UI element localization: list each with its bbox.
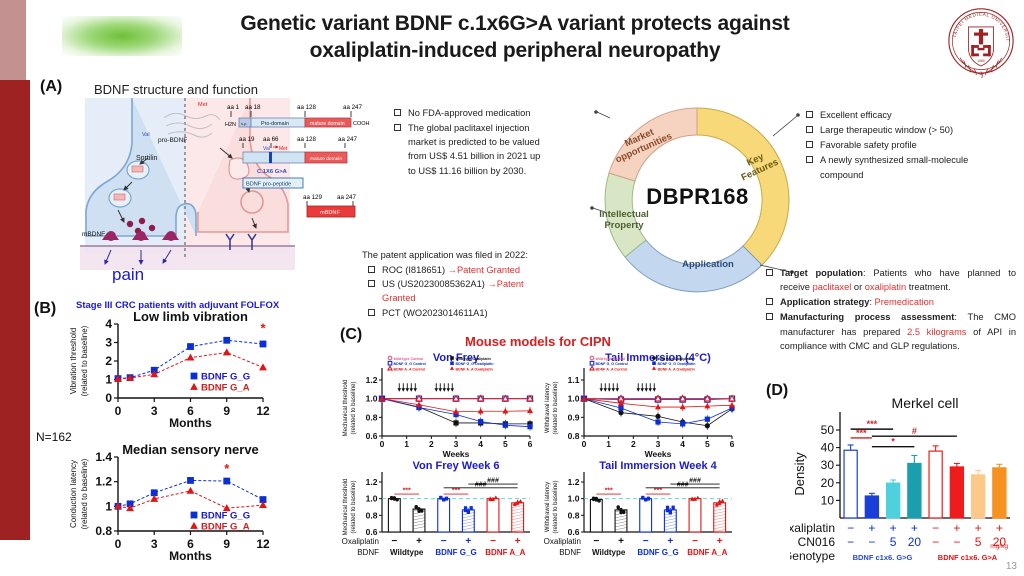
svg-text:40: 40 [821,441,835,455]
patent-item-0: ROC (I818651) →Patent Granted [368,263,537,277]
aa66-label: aa 66 [263,136,279,143]
svg-text:0: 0 [115,537,122,551]
donut-label-application: Application [668,260,748,271]
patent-text-1: US (US20230085362A1) [382,279,485,289]
svg-text:BDNF G_G: BDNF G_G [435,548,476,557]
svg-text:(related to baseline): (related to baseline) [553,480,559,533]
checkbox-icon [806,126,813,133]
propeptide-label: BDNF pro-peptide [246,182,291,188]
bar [438,499,450,532]
svg-text:Wild type Oxaliplatin: Wild type Oxaliplatin [456,357,491,361]
checkbox-icon [766,298,773,305]
svg-text:BDNF G_G: BDNF G_G [201,372,250,383]
chart-tail-immersion-week4: Tail Immersion Week 40.60.81.01.2Withdra… [540,458,736,576]
svg-text:mg/kg: mg/kg [990,543,1008,550]
series-bdnf-g-a [114,487,267,511]
svg-text:Wild type Control: Wild type Control [596,357,626,361]
svg-text:(related to baseline): (related to baseline) [351,381,357,434]
svg-text:BDNF A_A Oxaliplatin: BDNF A_A Oxaliplatin [456,367,493,371]
chart-svg: Merkel cell1020304050Density−−+−+5+20−−+… [790,386,1016,576]
panel-c-header: Mouse models for CIPN [418,334,658,349]
donut-label-intellectual-property: IntellectualProperty [586,210,662,232]
svg-text:1.0: 1.0 [366,494,378,504]
logo-arc-text: TAIPEI MEDICAL UNIVERSITY [946,6,1010,42]
chart-merkel-cell: Merkel cell1020304050Density−−+−+5+20−−+… [790,386,1016,576]
svg-text:Mechanical threshold: Mechanical threshold [343,380,349,437]
key-feature-2: Favorable safety profile [806,138,1006,152]
panel-a-subtitle: BDNF structure and function [94,82,258,97]
taipei-medical-university-logo: 1960 TAIPEI MEDICAL UNIVERSITY [946,6,1016,80]
page-number: 13 [1006,561,1017,572]
aa18-label: aa 18 [245,104,261,111]
key-feature-0: Excellent efficacy [806,108,1006,122]
svg-text:0: 0 [105,391,112,405]
aa247-label-2: aa 247 [338,136,357,143]
checkbox-icon [368,309,375,316]
application-bullet-0: Target population: Patients who have pla… [766,266,1016,294]
svg-text:+: + [953,521,960,535]
svg-text:0.6: 0.6 [366,431,378,441]
svg-text:+: + [868,521,875,535]
svg-text:9: 9 [223,537,230,551]
svg-text:BDNF: BDNF [357,548,379,557]
bar [590,500,602,533]
app-mid-0: or [851,282,864,292]
key-feature-1: Large therapeutic window (> 50) [806,123,1006,137]
bdnf-domain-map: aa 1 aa 18 aa 128 aa 247 H2N s.p. Pro-do… [225,100,385,222]
svg-text:50: 50 [821,423,835,437]
svg-text:3: 3 [454,439,459,449]
svg-text:5: 5 [975,535,982,549]
svg-text:0: 0 [582,439,587,449]
bar [929,451,942,518]
svg-text:5: 5 [890,535,897,549]
prodomain-label: Pro-domain [261,121,289,127]
chart-von-frey: Von Frey0.60.81.01.20123456WeeksMechanic… [338,350,534,458]
svg-text:1: 1 [606,439,611,449]
svg-text:1.1: 1.1 [568,375,580,385]
bar [950,467,963,518]
svg-text:###: ### [677,481,689,488]
application-bullet-2: Manufacturing process assessment: The CM… [766,310,1016,352]
svg-text:#: # [912,426,917,436]
svg-text:BDNF A_A: BDNF A_A [485,548,525,557]
svg-text:Oxaliplatin: Oxaliplatin [342,537,379,546]
svg-text:1.0: 1.0 [366,394,378,404]
checkbox-icon [368,280,375,287]
svg-text:10: 10 [821,493,835,507]
green-gradient-decoration [62,16,182,56]
aa1-label: aa 1 [227,104,240,111]
aa19-label: aa 19 [239,136,255,143]
svg-text:1.2: 1.2 [366,375,378,385]
svg-text:BDNF G_G: BDNF G_G [201,511,250,522]
variant-label: C.1X6 G>A [257,169,288,175]
checkbox-icon [368,266,375,273]
svg-text:CN016: CN016 [798,535,836,549]
svg-text:+: + [890,521,897,535]
svg-text:6: 6 [730,439,735,449]
series-bdnf-a-a-control [581,396,735,401]
svg-text:−: − [441,536,447,547]
svg-text:Weeks: Weeks [645,449,672,458]
app-red1-2: 2.5 kilograms [907,327,966,337]
svg-text:2: 2 [631,439,636,449]
chart-svg: Tail Immersion (4°C)0.80.91.01.10123456W… [540,350,736,458]
svg-text:+: + [618,536,624,547]
svg-text:Conduction latency: Conduction latency [69,460,78,528]
app-red2-0: oxaliplatin [865,282,906,292]
svg-text:1: 1 [105,373,112,387]
svg-text:Tail Immersion Week 4: Tail Immersion Week 4 [599,460,717,472]
mbdnf-label: mBDNF [82,231,105,238]
svg-text:BDNF c1x6. G>G: BDNF c1x6. G>G [853,553,913,562]
svg-text:12: 12 [256,404,270,418]
bar [487,499,499,532]
svg-text:3: 3 [151,537,158,551]
chart-median-sensory-nerve: Median sensory nerve0.811.21.4036912Mont… [66,443,271,561]
left-edge-accent-top [0,0,26,80]
checkbox-icon [394,109,401,116]
svg-text:***: *** [856,428,867,438]
svg-text:1: 1 [404,439,409,449]
svg-text:0.6: 0.6 [568,527,580,537]
svg-text:(related to baseline): (related to baseline) [80,325,89,396]
app-red1-0: paclitaxel [813,282,852,292]
application-bullets-list: Target population: Patients who have pla… [766,266,1016,354]
svg-text:20: 20 [821,476,835,490]
svg-text:Vibration threshold: Vibration threshold [69,328,78,395]
panel-a-letter: (A) [40,78,62,96]
svg-text:−: − [692,536,698,547]
svg-text:BDNF G_A: BDNF G_A [201,383,250,394]
cooh-label: COOH [353,121,370,127]
svg-text:Wild type Oxaliplatin: Wild type Oxaliplatin [658,357,693,361]
val-label: Val [142,132,150,138]
svg-text:Von Frey Week 6: Von Frey Week 6 [412,460,499,472]
bar [993,468,1006,518]
svg-text:(related to baseline): (related to baseline) [351,480,357,533]
svg-text:Wildtype: Wildtype [390,548,424,557]
val-label-2: Val [263,146,270,152]
svg-text:+: + [667,536,673,547]
svg-text:2: 2 [429,439,434,449]
svg-text:0: 0 [380,439,385,449]
svg-text:12: 12 [256,537,270,551]
svg-text:***: *** [654,488,662,495]
svg-text:Median sensory nerve: Median sensory nerve [122,443,259,457]
svg-text:Withdrawal latency: Withdrawal latency [545,383,551,433]
panel-c-letter: (C) [340,326,362,344]
app-bold-2: Manufacturing process assessment [780,312,954,322]
svg-text:1.0: 1.0 [568,494,580,504]
svg-text:Merkel cell: Merkel cell [892,395,959,411]
checkbox-icon [806,111,813,118]
market-bullet-1: The global paclitaxel injection market i… [394,121,544,178]
key-feature-text-2: Favorable safety profile [820,138,917,152]
svg-text:(related to baseline): (related to baseline) [80,458,89,529]
aa128-label-2: aa 128 [297,136,316,143]
app-tail-0: treatment. [906,282,950,292]
checkbox-icon [766,269,773,276]
svg-text:1.2: 1.2 [366,477,378,487]
svg-text:−: − [847,521,854,535]
sample-size-label: N=162 [36,430,72,444]
svg-text:BDNF A_A Control: BDNF A_A Control [596,367,628,371]
key-feature-text-3: A newly synthesized small-molecule compo… [820,153,1006,181]
bar [844,450,857,518]
page-title: Genetic variant BDNF c.1x6G>A variant pr… [190,10,840,65]
app-bold-1: Application strategy [780,297,869,307]
svg-text:+: + [975,521,982,535]
app-red1-1: Premedication [875,297,934,307]
mature-domain-label: mature domain [310,121,345,127]
checkbox-icon [766,313,773,320]
svg-text:(related to baseline): (related to baseline) [553,381,559,434]
svg-text:+: + [416,536,422,547]
svg-text:0.9: 0.9 [568,412,580,422]
panel-d-letter: (D) [766,382,788,400]
patent-status-0: →Patent Granted [448,265,520,275]
chart-legend: BDNF G_GBDNF G_A [190,372,250,394]
key-features-bullets-list: Excellent efficacy Large therapeutic win… [806,108,1006,183]
svg-text:−: − [932,535,939,549]
sortilin-label: Sortilin [136,155,158,162]
donut-center-label: DBPR168 [590,184,805,210]
svg-text:BDNF G_G Oxaliplatin: BDNF G_G Oxaliplatin [658,362,696,366]
svg-text:3: 3 [105,336,112,350]
svg-text:Months: Months [169,549,212,561]
chart-svg: Von Frey Week 60.60.81.01.2Mechanical th… [338,458,534,576]
svg-text:Genotype: Genotype [790,549,835,563]
svg-text:−: − [932,521,939,535]
market-bullet-0: No FDA-approved medication [394,106,544,120]
mbdnf-box-label: mBDNF [320,210,340,216]
svg-text:−: − [868,535,875,549]
svg-text:*: * [224,461,230,476]
svg-text:###: ### [487,478,499,485]
left-edge-accent-main [0,80,30,540]
svg-text:BDNF: BDNF [559,548,581,557]
svg-text:−: − [593,536,599,547]
svg-text:Wild type Control: Wild type Control [394,357,424,361]
svg-text:***: *** [452,488,460,495]
svg-text:−: − [847,535,854,549]
aa247-label-top: aa 247 [343,104,362,111]
svg-text:+: + [465,536,471,547]
chart-svg: Von Frey0.60.81.01.20123456WeeksMechanic… [338,350,534,458]
checkbox-icon [394,124,401,131]
chart-von-frey-week6: Von Frey Week 60.60.81.01.2Mechanical th… [338,458,534,576]
svg-text:−: − [953,535,960,549]
svg-text:4: 4 [680,439,685,449]
svg-text:+: + [911,521,918,535]
svg-text:3: 3 [151,404,158,418]
h2n-label: H2N [225,122,236,128]
svg-text:###: ### [689,478,701,485]
svg-text:+: + [515,536,521,547]
chart-svg: Median sensory nerve0.811.21.4036912Mont… [66,443,271,561]
key-feature-text-1: Large therapeutic window (> 50) [820,123,953,137]
bar [640,499,652,532]
bar [908,463,921,518]
met-label-2: Met [279,146,288,152]
application-bullet-1: Application strategy: Premedication [766,295,1016,309]
svg-text:***: *** [867,419,878,429]
svg-text:***: *** [403,488,411,495]
svg-text:Low limb vibration: Low limb vibration [133,310,248,324]
svg-text:1.2: 1.2 [95,475,112,489]
svg-text:*: * [891,437,895,447]
svg-text:Weeks: Weeks [443,449,470,458]
chart-svg: Low limb vibration01234036912MonthsVibra… [66,310,271,428]
svg-text:BDNF A_A Control: BDNF A_A Control [394,367,426,371]
patent-text-0: ROC (I818651) [382,265,445,275]
svg-text:1.2: 1.2 [568,477,580,487]
bar [865,496,878,518]
svg-text:20: 20 [908,535,922,549]
svg-text:0.8: 0.8 [568,431,580,441]
series-bdnf-a-a-control [379,396,533,401]
svg-text:+: + [717,536,723,547]
sp-label: s.p. [241,121,247,126]
left-edge-accent-bottom [0,540,30,576]
svg-text:0.6: 0.6 [366,527,378,537]
svg-text:5: 5 [705,439,710,449]
aa247-label-3: aa 247 [337,194,356,201]
page-title-line1: Genetic variant BDNF c.1x6G>A variant pr… [190,10,840,37]
svg-text:Wildtype: Wildtype [592,548,626,557]
svg-text:1.0: 1.0 [568,394,580,404]
bar [972,475,985,518]
svg-text:Oxaliplatin: Oxaliplatin [544,537,581,546]
svg-text:1.4: 1.4 [95,450,112,464]
svg-text:4: 4 [478,439,483,449]
pain-label: pain [112,265,144,283]
mature-domain-label-2: mature domain [310,156,342,162]
svg-text:*: * [260,320,266,335]
checkbox-icon [806,156,813,163]
chart-tail-immersion: Tail Immersion (4°C)0.80.91.01.10123456W… [540,350,736,458]
svg-text:BDNF G_G Oxaliplatin: BDNF G_G Oxaliplatin [456,362,494,366]
patent-item-2: PCT (WO2023014611A1) [368,306,537,320]
svg-text:−: − [490,536,496,547]
svg-text:BDNF G_A: BDNF G_A [201,522,250,533]
probdnf-label: pro-BDNF [158,137,187,144]
patent-item-1: US (US20230085362A1) →Patent Granted [368,277,537,305]
svg-text:−: − [643,536,649,547]
svg-text:Withdrawal latency: Withdrawal latency [545,482,551,532]
svg-text:Mechanical threshold: Mechanical threshold [343,479,349,536]
svg-text:Months: Months [169,416,212,428]
chart-svg: Tail Immersion Week 40.60.81.01.2Withdra… [540,458,736,576]
checkbox-icon [806,141,813,148]
bar [388,499,400,532]
key-feature-text-0: Excellent efficacy [820,108,892,122]
svg-text:9: 9 [223,404,230,418]
svg-text:BDNF c1x6. G>A: BDNF c1x6. G>A [938,553,998,562]
bar [887,483,900,518]
svg-text:0.8: 0.8 [366,510,378,520]
page-title-line2: oxaliplatin-induced peripheral neuropath… [190,37,840,64]
chart-legend: BDNF G_GBDNF G_A [190,511,250,533]
svg-text:3: 3 [656,439,661,449]
key-feature-3: A newly synthesized small-molecule compo… [806,153,1006,181]
panel-b-letter: (B) [34,300,56,318]
patent-intro: The patent application was filed in 2022… [362,248,537,262]
svg-text:BDNF G_G Control: BDNF G_G Control [394,362,426,366]
svg-text:1: 1 [105,499,112,513]
logo-year-text: 1960 [977,59,985,63]
chart-low-limb-vibration: Low limb vibration01234036912MonthsVibra… [66,310,271,428]
svg-text:0.8: 0.8 [568,510,580,520]
svg-text:BDNF G_G Control: BDNF G_G Control [596,362,628,366]
svg-text:BDNF G_G: BDNF G_G [637,548,678,557]
svg-text:Oxaliplatin: Oxaliplatin [790,521,835,535]
bar [689,499,701,532]
app-bold-0: Target population [780,268,863,278]
svg-text:0: 0 [115,404,122,418]
svg-text:6: 6 [528,439,533,449]
svg-text:30: 30 [821,458,835,472]
svg-text:2: 2 [105,354,112,368]
svg-text:BDNF A_A Oxaliplatin: BDNF A_A Oxaliplatin [658,367,695,371]
market-bullet-text-0: No FDA-approved medication [408,106,530,120]
svg-text:+: + [996,521,1003,535]
svg-text:###: ### [475,481,487,488]
svg-text:0.8: 0.8 [95,524,112,538]
market-bullets-list: No FDA-approved medication The global pa… [394,106,544,179]
svg-text:0.8: 0.8 [366,412,378,422]
svg-text:Density: Density [792,452,807,496]
met-label: Met [198,102,208,108]
patent-section: The patent application was filed in 2022… [362,248,537,320]
aa129-label: aa 129 [303,194,322,201]
svg-text:BDNF A_A: BDNF A_A [687,548,727,557]
svg-text:−: − [391,536,397,547]
patent-text-2: PCT (WO2023014611A1) [382,306,488,320]
svg-text:5: 5 [503,439,508,449]
market-bullet-text-1: The global paclitaxel injection market i… [408,121,544,178]
svg-text:4: 4 [105,317,112,331]
svg-text:***: *** [605,488,613,495]
aa128-label-top: aa 128 [297,104,316,111]
